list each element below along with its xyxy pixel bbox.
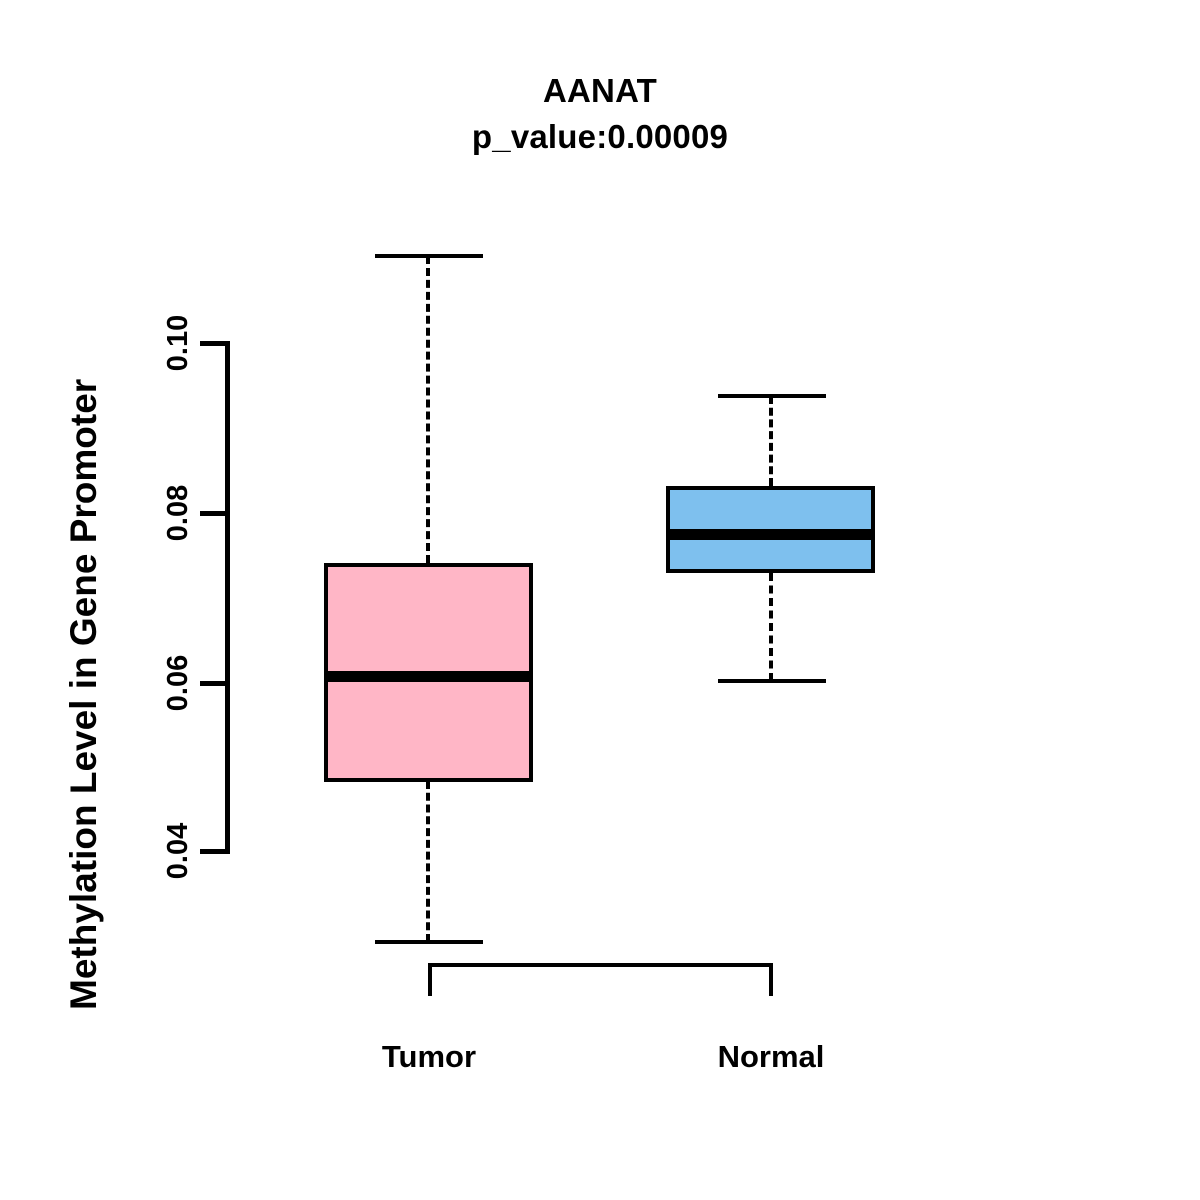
normal-upper-whisker-line	[769, 396, 773, 486]
y-tick-label-0.04: 0.04	[163, 781, 193, 921]
normal-upper-whisker-cap	[718, 394, 826, 398]
x-tick-label-normal: Normal	[621, 1039, 921, 1075]
normal-median-line	[666, 529, 875, 540]
x-tick-mark-normal	[769, 963, 773, 996]
x-axis-line	[428, 963, 773, 967]
tumor-upper-whisker-line	[426, 256, 430, 563]
y-tick-mark-0.04	[200, 849, 226, 854]
boxplot-figure: AANAT p_value:0.00009 Methylation Level …	[0, 0, 1200, 1200]
tumor-lower-whisker-line	[426, 781, 430, 942]
pvalue-subtitle: p_value:0.00009	[0, 120, 1200, 153]
y-tick-mark-0.10	[200, 341, 226, 346]
y-axis-title: Methylation Level in Gene Promoter	[56, 0, 112, 1010]
y-tick-label-0.08: 0.08	[163, 443, 193, 583]
x-tick-label-tumor: Tumor	[279, 1039, 579, 1075]
normal-lower-whisker-cap	[718, 679, 826, 683]
tumor-median-line	[324, 671, 533, 682]
y-tick-label-0.06: 0.06	[163, 613, 193, 753]
tumor-upper-whisker-cap	[375, 254, 483, 258]
y-axis-line	[225, 341, 230, 854]
page-title: AANAT	[0, 74, 1200, 107]
normal-lower-whisker-line	[769, 573, 773, 681]
y-tick-label-0.10: 0.10	[163, 273, 193, 413]
x-tick-mark-tumor	[428, 963, 432, 996]
y-tick-mark-0.08	[200, 511, 226, 516]
y-tick-mark-0.06	[200, 681, 226, 686]
tumor-lower-whisker-cap	[375, 940, 483, 944]
